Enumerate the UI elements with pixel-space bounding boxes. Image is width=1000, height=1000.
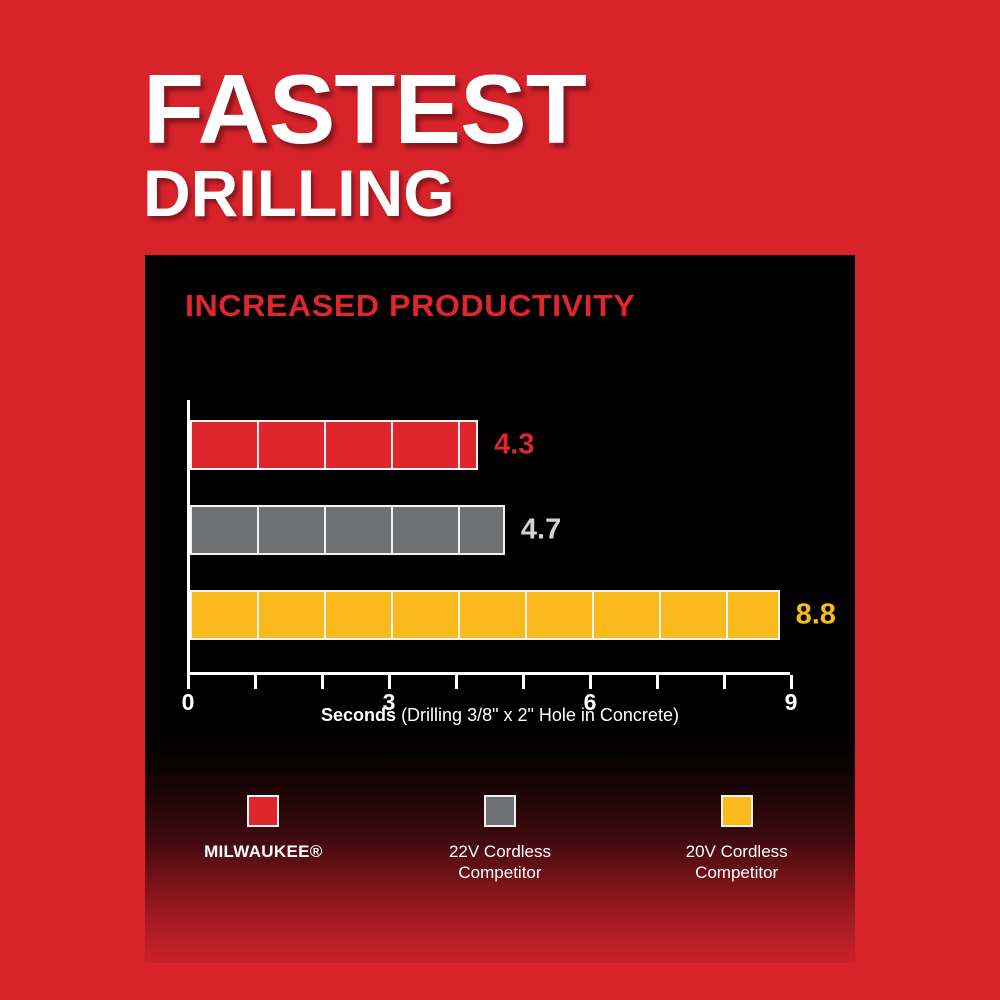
bar-value-label-1: 4.3 [494, 429, 534, 462]
bar-value-label-3: 8.8 [796, 599, 836, 632]
bar-segment [393, 422, 460, 468]
bar-segment [192, 592, 259, 638]
bar-segment [259, 592, 326, 638]
x-tick-7 [656, 675, 659, 689]
legend-swatch-milwaukee [247, 795, 279, 827]
chart-panel: INCREASED PRODUCTIVITY 0369 4.34.78.8 Se… [145, 255, 855, 963]
bar-row-2: 4.7 [145, 505, 855, 555]
headline-line-1: FASTEST [143, 62, 918, 156]
bar-segment [393, 507, 460, 553]
x-tick-4 [455, 675, 458, 689]
legend-item-22v-competitor: 22V Cordless Competitor [400, 795, 600, 884]
bar-segment-partial [460, 507, 503, 553]
x-tick-8 [723, 675, 726, 689]
x-axis-caption-rest: (Drilling 3/8" x 2" Hole in Concrete) [396, 705, 679, 725]
bar-segment [326, 507, 393, 553]
x-tick-9 [790, 675, 793, 689]
x-tick-3 [388, 675, 391, 689]
legend-label-20v-competitor: 20V Cordless Competitor [637, 841, 837, 884]
bar-segment [594, 592, 661, 638]
bar-segment-partial [728, 592, 778, 638]
bar-value-label-2: 4.7 [521, 514, 561, 547]
bar-segment [393, 592, 460, 638]
x-tick-1 [254, 675, 257, 689]
bar-1 [190, 420, 478, 470]
x-axis-caption-strong: Seconds [321, 705, 396, 725]
bar-segment-partial [460, 422, 476, 468]
x-tick-0 [187, 675, 190, 689]
legend-swatch-20v-competitor [721, 795, 753, 827]
x-axis-line [187, 672, 790, 675]
legend-label-22v-competitor: 22V Cordless Competitor [400, 841, 600, 884]
x-tick-5 [522, 675, 525, 689]
bar-row-3: 8.8 [145, 590, 855, 640]
bar-segment [460, 592, 527, 638]
bar-segment [259, 422, 326, 468]
bar-segment [661, 592, 728, 638]
chart-legend: MILWAUKEE® 22V Cordless Competitor 20V C… [145, 795, 855, 884]
x-axis-caption: Seconds (Drilling 3/8" x 2" Hole in Conc… [145, 705, 855, 726]
bar-segment [326, 592, 393, 638]
legend-label-milwaukee: MILWAUKEE® [163, 841, 363, 862]
headline-block: FASTEST DRILLING [143, 62, 903, 226]
bar-segment [527, 592, 594, 638]
bar-segment [326, 422, 393, 468]
bar-segment [259, 507, 326, 553]
bar-segment [192, 422, 259, 468]
legend-item-milwaukee: MILWAUKEE® [163, 795, 363, 862]
x-tick-2 [321, 675, 324, 689]
bar-row-1: 4.3 [145, 420, 855, 470]
bar-3 [190, 590, 780, 640]
plot-area: 0369 4.34.78.8 [145, 255, 855, 725]
bar-2 [190, 505, 505, 555]
headline-line-2: DRILLING [143, 160, 903, 226]
x-tick-6 [589, 675, 592, 689]
legend-item-20v-competitor: 20V Cordless Competitor [637, 795, 837, 884]
legend-swatch-22v-competitor [484, 795, 516, 827]
bar-segment [192, 507, 259, 553]
